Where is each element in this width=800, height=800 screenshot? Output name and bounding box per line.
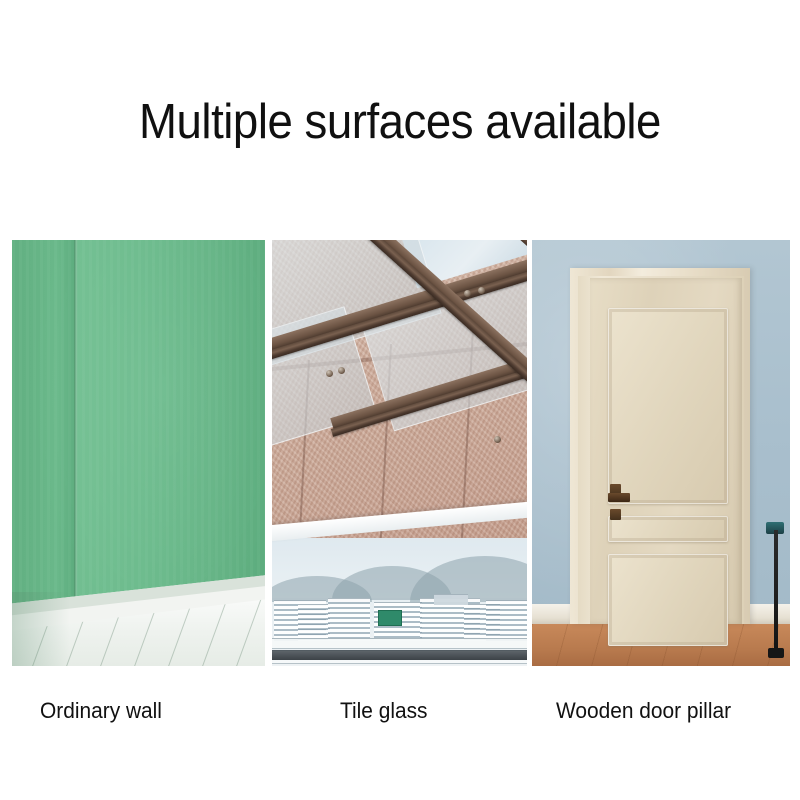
- door-handle[interactable]: [608, 493, 630, 502]
- page-title: Multiple surfaces available: [28, 98, 772, 147]
- floor-corner-shadow: [12, 592, 70, 666]
- door-panel-top: [608, 308, 728, 504]
- caption-wooden-door-pillar: Wooden door pillar: [556, 698, 731, 724]
- panel-ordinary-wall[interactable]: [12, 240, 265, 666]
- surface-gallery: [12, 240, 790, 666]
- tripod-pole: [774, 530, 778, 650]
- cityscape-view: [272, 538, 527, 666]
- wall-corner-edge: [74, 240, 77, 630]
- door-panel-bottom: [608, 554, 728, 646]
- caption-ordinary-wall: Ordinary wall: [40, 698, 162, 724]
- balcony-guardrail: [272, 650, 527, 660]
- tripod-foot: [768, 648, 784, 658]
- panel-captions: Ordinary wall Tile glass Wooden door pil…: [0, 698, 800, 728]
- wooden-door[interactable]: [590, 278, 742, 624]
- glass-canopy: [272, 240, 527, 450]
- door-lock[interactable]: [610, 509, 621, 520]
- door-panel-middle: [608, 516, 728, 542]
- panel-tile-glass[interactable]: [272, 240, 527, 666]
- caption-tile-glass: Tile glass: [340, 698, 428, 724]
- panel-wooden-door-pillar[interactable]: [532, 240, 790, 666]
